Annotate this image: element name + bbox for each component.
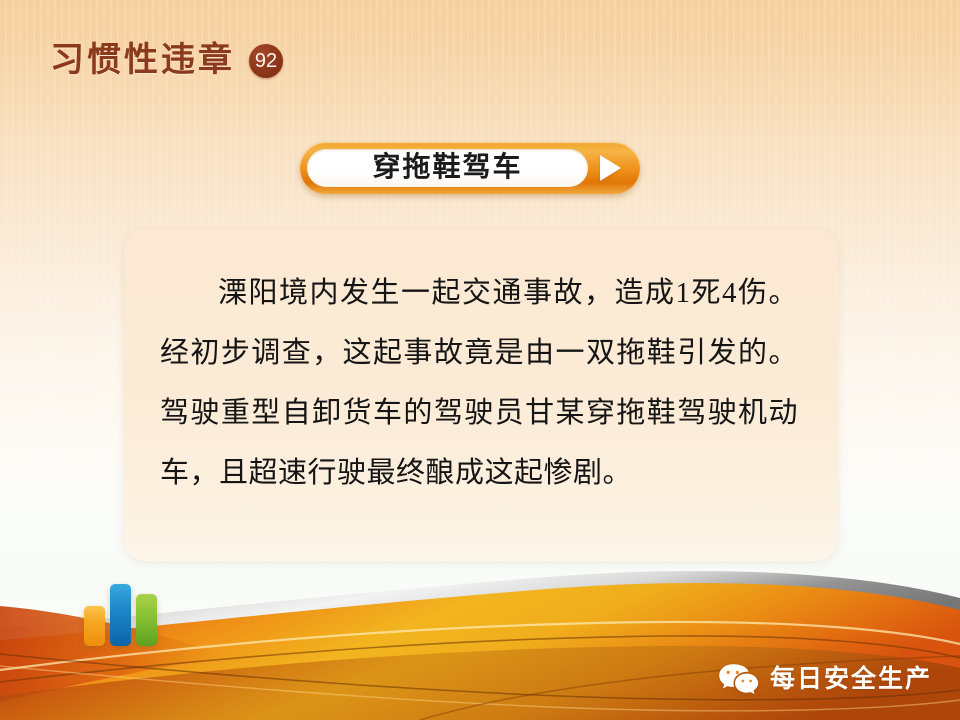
slide-canvas: 习惯性违章 92 穿拖鞋驾车 溧阳境内发生一起交通事故，造成1死4伤。经初步调查… (0, 0, 960, 720)
content-paragraph: 溧阳境内发生一起交通事故，造成1死4伤。经初步调查，这起事故竟是由一双拖鞋引发的… (160, 263, 798, 503)
orange-bar (84, 606, 105, 646)
section-title-pill[interactable]: 穿拖鞋驾车 (300, 142, 640, 194)
wechat-icon (717, 662, 759, 696)
footer-brand: 每日安全生产 (717, 662, 932, 696)
slide-header: 习惯性违章 92 (50, 44, 283, 78)
page-number-badge: 92 (249, 44, 283, 78)
play-triangle-shape (600, 155, 621, 181)
blue-bar (110, 584, 131, 646)
section-title-label: 穿拖鞋驾车 (372, 154, 522, 182)
brand-name-label: 每日安全生产 (770, 667, 932, 692)
play-triangle-icon[interactable] (588, 148, 632, 188)
green-bar (136, 594, 157, 646)
section-title-pill-inner: 穿拖鞋驾车 (307, 149, 588, 187)
content-card: 溧阳境内发生一起交通事故，造成1死4伤。经初步调查，这起事故竟是由一双拖鞋引发的… (124, 229, 838, 561)
page-title: 习惯性违章 (50, 44, 235, 78)
bar-chart-icon (84, 576, 160, 646)
